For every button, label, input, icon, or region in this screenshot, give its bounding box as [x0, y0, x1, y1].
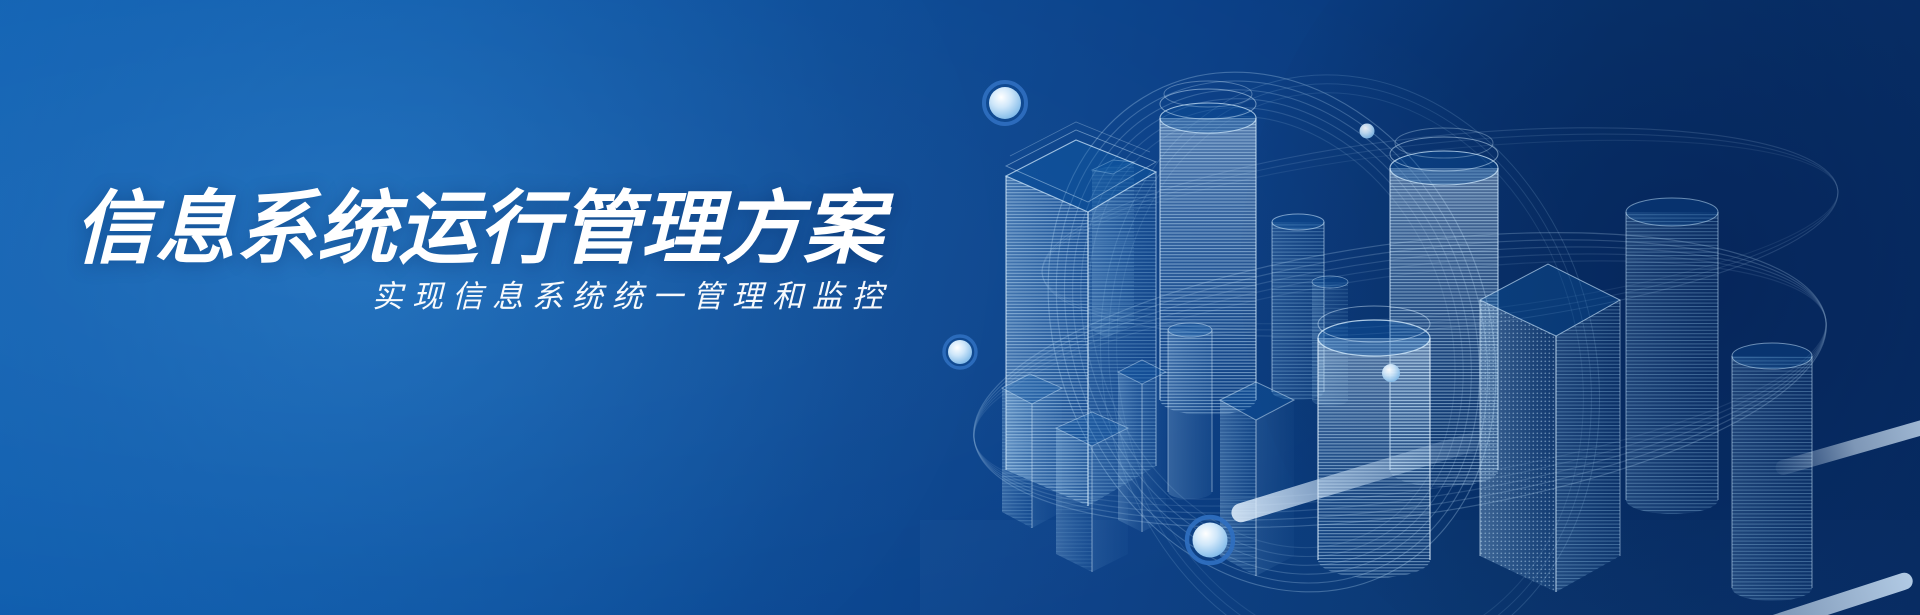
tower-ribbed-left [1006, 122, 1156, 506]
page-subtitle: 实现信息系统统一管理和监控 [372, 278, 892, 316]
lowrise-5 [1220, 382, 1294, 576]
lowrise-2 [1056, 412, 1128, 572]
light-streak-upper [1685, 571, 1915, 615]
glow-nodes [944, 82, 1400, 563]
tower-small-cyl [1312, 276, 1348, 406]
background-shadow-right [1240, 0, 1920, 615]
lowrise-3 [1118, 360, 1166, 532]
hero-banner: 信息系统运行管理方案 实现信息系统统一管理和监控 [0, 0, 1920, 615]
glow-dot-top-left [984, 82, 1026, 124]
light-streaks [1229, 408, 1920, 615]
light-streak-lower [1229, 428, 1491, 525]
tower-spire-left [1092, 160, 1134, 338]
lowrise-1 [1002, 374, 1062, 528]
orbit-rings [967, 0, 1661, 615]
tower-right-block [1480, 264, 1620, 592]
glow-dot-small-right [1382, 364, 1400, 382]
page-title: 信息系统运行管理方案 [74, 186, 884, 272]
tower-centre-big [1318, 306, 1430, 578]
glow-dot-bottom [1187, 517, 1233, 563]
background-vignette [0, 0, 1920, 615]
glow-dot-small-upper-right [1360, 124, 1375, 139]
orbit-band-wide [955, 95, 1848, 575]
tower-far-right [1732, 343, 1812, 601]
tower-back-2 [1390, 128, 1498, 487]
tower-mid-cyl [1272, 214, 1324, 400]
tower-back-3 [1626, 198, 1718, 514]
light-streak-right [1774, 408, 1920, 476]
lowrise-4 [1168, 323, 1212, 499]
banner-text-block: 信息系统运行管理方案 实现信息系统统一管理和监控 [0, 0, 940, 615]
wireframe-city-illustration [920, 0, 1920, 615]
lowrise-cluster [1002, 323, 1294, 576]
glow-dot-mid-left [944, 336, 976, 368]
background-glow-left [0, 0, 990, 615]
tower-back-1 [1160, 81, 1256, 415]
wireframe-buildings [920, 81, 1920, 615]
